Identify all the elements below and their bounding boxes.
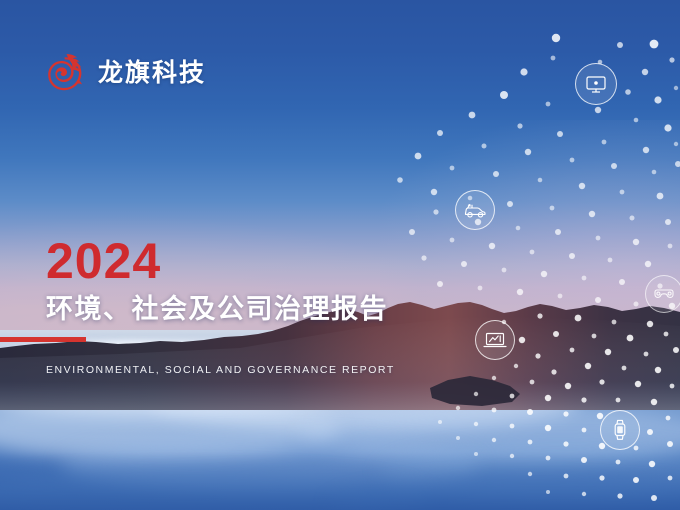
longcheer-dragon-spiral-logo-icon	[44, 52, 88, 94]
badge-laptop	[475, 320, 515, 360]
report-year: 2024	[46, 236, 606, 286]
car-icon	[463, 202, 487, 219]
cover-title-block: 2024 环境、社会及公司治理报告	[46, 236, 606, 325]
badge-ar-glasses	[645, 275, 680, 313]
badge-car	[455, 190, 495, 230]
title-red-divider	[0, 337, 86, 342]
report-title-zh: 环境、社会及公司治理报告	[46, 295, 606, 325]
smartwatch-icon	[612, 418, 628, 442]
report-title-en: ENVIRONMENTAL, SOCIAL AND GOVERNANCE REP…	[46, 364, 395, 376]
badge-smartwatch	[600, 410, 640, 450]
esg-report-cover-page: 龙旗科技 2024 环境、社会及公司治理报告 ENVIRONMENTAL, SO…	[0, 0, 680, 510]
company-logo: 龙旗科技	[44, 52, 206, 94]
monitor-icon	[585, 74, 607, 94]
ar-glasses-icon	[653, 287, 675, 301]
laptop-icon	[483, 331, 507, 349]
badge-monitor	[575, 63, 617, 105]
company-name: 龙旗科技	[98, 61, 206, 86]
